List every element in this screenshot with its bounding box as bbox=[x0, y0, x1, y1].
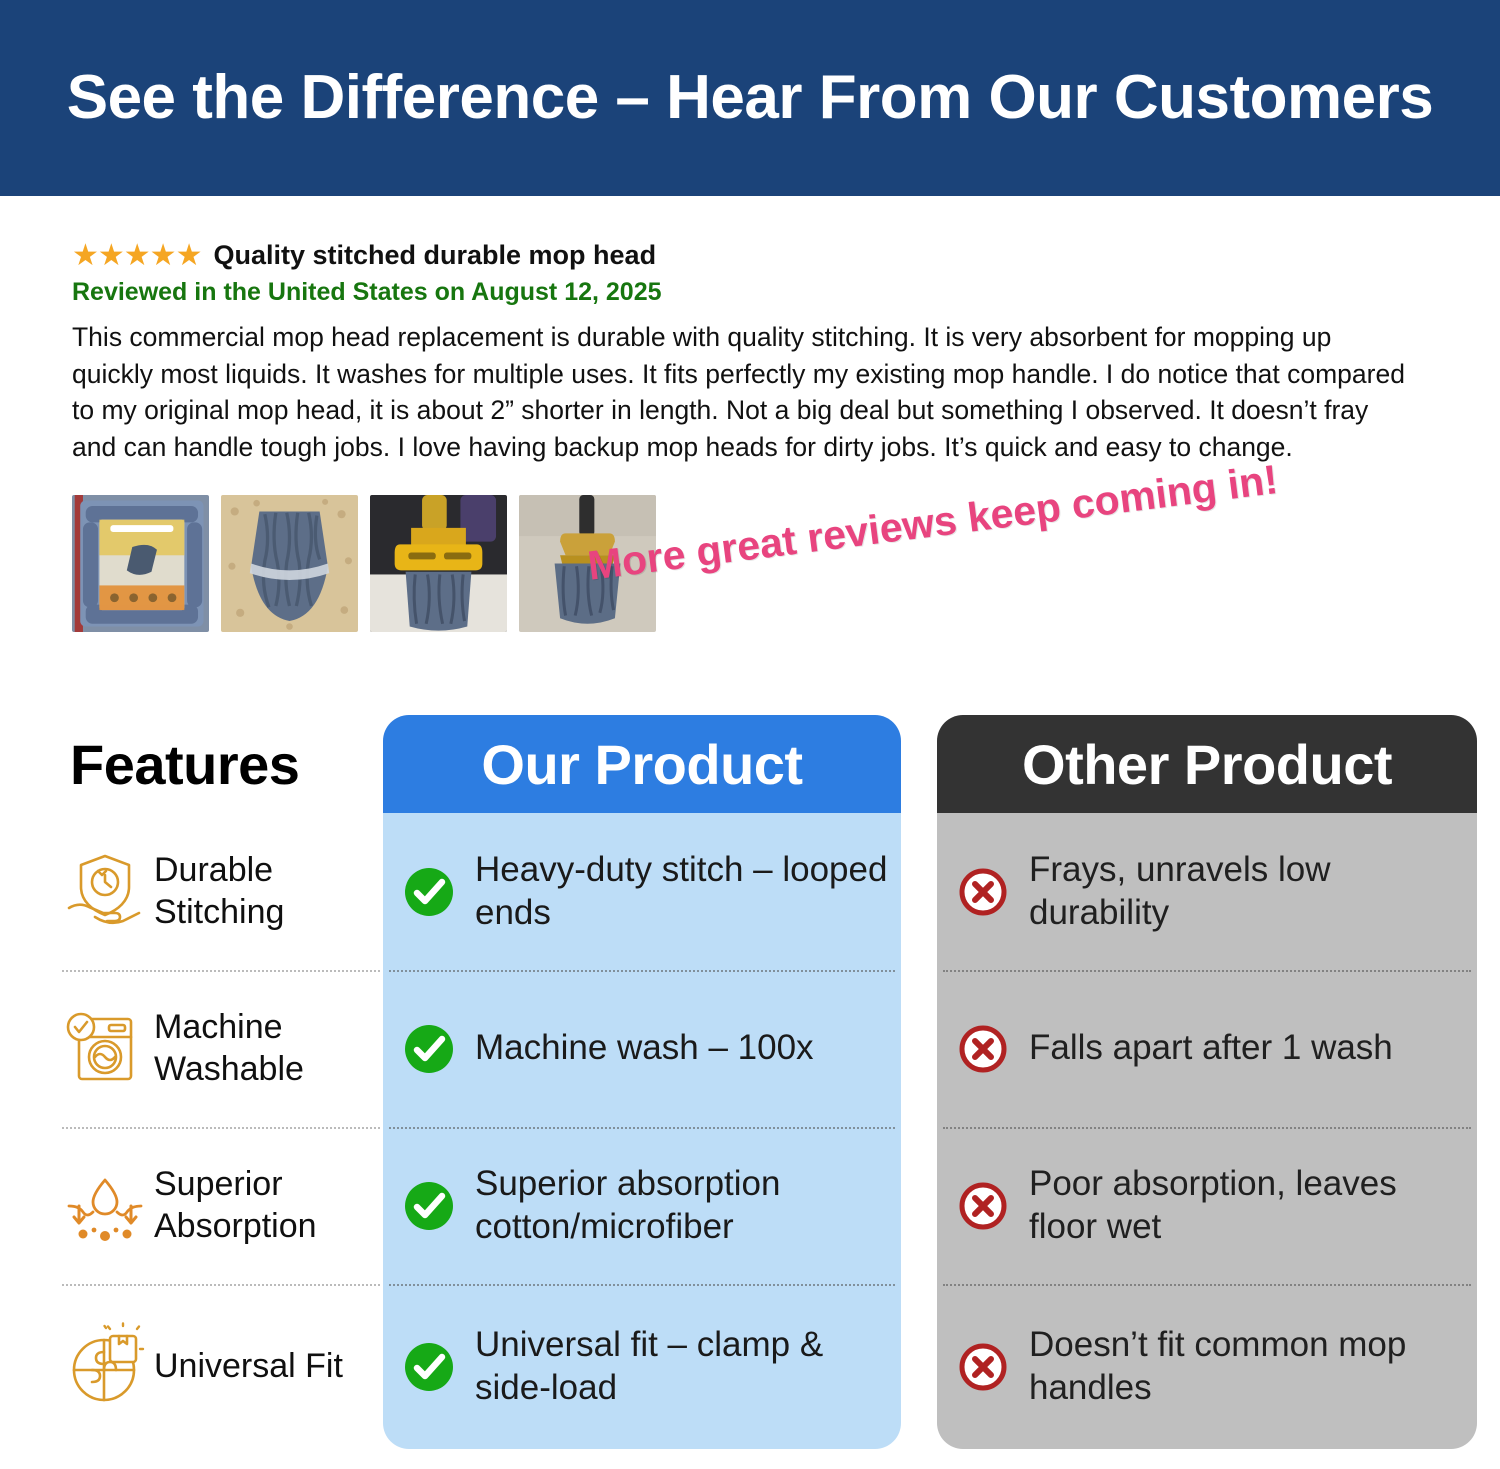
our-product-row: Universal fit – clamp & side-load bbox=[383, 1284, 901, 1449]
feature-label: Durable Stitching bbox=[148, 850, 380, 933]
other-product-value: Falls apart after 1 wash bbox=[1029, 1027, 1405, 1070]
feature-row: Machine Washable bbox=[62, 970, 380, 1127]
other-product-value: Poor absorption, leaves floor wet bbox=[1029, 1163, 1477, 1248]
feature-label: Universal Fit bbox=[148, 1346, 343, 1387]
our-product-value: Superior absorption cotton/microfiber bbox=[475, 1163, 901, 1248]
our-product-column-header: Our Product bbox=[383, 715, 901, 813]
review-body: This commercial mop head replacement is … bbox=[72, 319, 1417, 465]
our-product-value: Machine wash – 100x bbox=[475, 1027, 826, 1070]
cross-icon bbox=[937, 868, 1029, 916]
other-product-value: Frays, unravels low durability bbox=[1029, 849, 1477, 934]
other-product-row: Frays, unravels low durability bbox=[937, 813, 1477, 970]
feature-row: Universal Fit bbox=[62, 1284, 380, 1449]
our-product-row: Machine wash – 100x bbox=[383, 970, 901, 1127]
other-product-value: Doesn’t fit common mop handles bbox=[1029, 1324, 1477, 1409]
star-rating-icon: ★★★★★ bbox=[72, 241, 201, 271]
our-product-value: Heavy-duty stitch – looped ends bbox=[475, 849, 901, 934]
check-icon bbox=[383, 1023, 475, 1075]
our-product-row: Heavy-duty stitch – looped ends bbox=[383, 813, 901, 970]
features-header-label: Features bbox=[70, 732, 299, 797]
feature-row: Durable Stitching bbox=[62, 813, 380, 970]
customer-review: ★★★★★ Quality stitched durable mop head … bbox=[0, 196, 1500, 465]
our-product-value: Universal fit – clamp & side-load bbox=[475, 1324, 901, 1409]
other-product-row: Poor absorption, leaves floor wet bbox=[937, 1127, 1477, 1284]
review-photo-2[interactable] bbox=[221, 495, 358, 632]
check-icon bbox=[383, 866, 475, 918]
review-meta: Reviewed in the United States on August … bbox=[72, 278, 1430, 307]
check-icon bbox=[383, 1341, 475, 1393]
other-product-header-label: Other Product bbox=[1022, 732, 1392, 797]
other-product-row: Doesn’t fit common mop handles bbox=[937, 1284, 1477, 1449]
yellow-clamp-handle-photo-icon bbox=[370, 495, 507, 632]
comparison-column-features: Features Durable Stitching bbox=[62, 715, 380, 1449]
review-photo-3[interactable] bbox=[370, 495, 507, 632]
other-product-row: Falls apart after 1 wash bbox=[937, 970, 1477, 1127]
review-media-row: More great reviews keep coming in! bbox=[0, 495, 1500, 655]
puzzle-fit-icon bbox=[62, 1322, 148, 1412]
cross-icon bbox=[937, 1025, 1029, 1073]
page-title: See the Difference – Hear From Our Custo… bbox=[67, 65, 1434, 132]
packaged-mop-photo-icon bbox=[72, 495, 209, 632]
review-photo-1[interactable] bbox=[72, 495, 209, 632]
feature-label: Superior Absorption bbox=[148, 1164, 380, 1247]
washing-machine-check-icon bbox=[62, 1005, 148, 1093]
our-product-row: Superior absorption cotton/microfiber bbox=[383, 1127, 901, 1284]
review-title: Quality stitched durable mop head bbox=[213, 240, 656, 271]
water-absorption-icon bbox=[62, 1162, 148, 1250]
cross-icon bbox=[937, 1343, 1029, 1391]
page-header: See the Difference – Hear From Our Custo… bbox=[0, 0, 1500, 196]
comparison-table: Features Durable Stitching bbox=[0, 715, 1500, 1469]
feature-row: Superior Absorption bbox=[62, 1127, 380, 1284]
shield-hand-icon bbox=[62, 848, 148, 936]
cross-icon bbox=[937, 1182, 1029, 1230]
feature-label: Machine Washable bbox=[148, 1007, 380, 1090]
comparison-column-other-product: Other Product Frays, unravels low durabi… bbox=[937, 715, 1477, 1449]
review-header-line: ★★★★★ Quality stitched durable mop head bbox=[72, 240, 1430, 271]
features-column-header: Features bbox=[62, 715, 380, 813]
our-product-header-label: Our Product bbox=[481, 732, 802, 797]
mop-head-on-counter-photo-icon bbox=[221, 495, 358, 632]
comparison-column-our-product: Our Product Heavy-duty stitch – looped e… bbox=[383, 715, 901, 1449]
other-product-column-header: Other Product bbox=[937, 715, 1477, 813]
check-icon bbox=[383, 1180, 475, 1232]
